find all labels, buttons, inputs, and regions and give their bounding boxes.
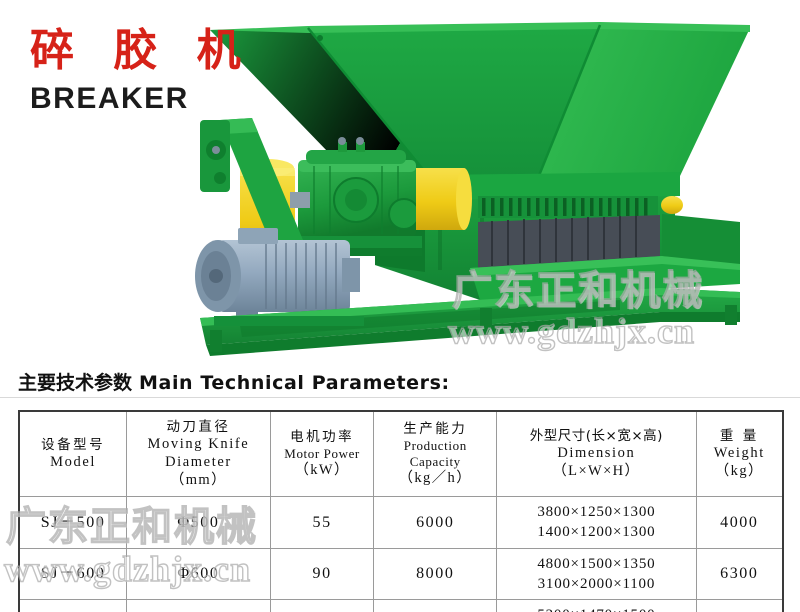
drive-shaft [290, 192, 310, 208]
col-header-dimension-cn: 外型尺寸(长×宽×高) [499, 427, 694, 445]
cell-motor-power: 55 [270, 497, 374, 549]
cell-dimension-line1: 5200×1470×1500 [499, 605, 694, 612]
col-header-motor-power-cn: 电机功率 [273, 428, 372, 446]
col-header-model: 设备型号 Model [19, 411, 127, 497]
cell-dimension-line2: 3100×2000×1100 [499, 574, 694, 594]
cell-motor-power-value: 90 [273, 563, 372, 585]
col-header-capacity: 生产能力 Production Capacity （kg／h） [374, 411, 497, 497]
product-photo [180, 0, 800, 360]
col-header-dimension: 外型尺寸(长×宽×高) Dimension （L×W×H） [497, 411, 697, 497]
cell-model: SJ－600 [19, 548, 127, 600]
col-header-weight-en: Weight [699, 445, 780, 462]
cell-dimension-line2: 1400×1200×1300 [499, 522, 694, 542]
cell-motor-power: 132 [270, 600, 374, 612]
breaker-machine-illustration [180, 0, 800, 360]
cell-dimension: 5200×1470×1500 2300×3200×1500 [497, 600, 697, 612]
col-header-motor-power-unit: （kW） [273, 461, 372, 479]
table-header-row: 设备型号 Model 动刀直径 Moving Knife Diameter （m… [19, 411, 783, 497]
motor-mount-rail [214, 316, 364, 326]
cell-dimension-line1: 4800×1500×1350 [499, 554, 694, 574]
cell-knife-diameter: Φ700 [127, 600, 271, 612]
col-header-knife-diameter: 动刀直径 Moving Knife Diameter （mm） [127, 411, 271, 497]
cell-dimension: 4800×1500×1350 3100×2000×1100 [497, 548, 697, 600]
belt-guard-yellow-rear [416, 168, 472, 230]
cell-model: SJ－500 [19, 497, 127, 549]
col-header-motor-power-en: Motor Power [273, 446, 372, 462]
table-row: SJ－500 Φ500 55 6000 3800×1250×1300 1400×… [19, 497, 783, 549]
spec-table-container: 设备型号 Model 动刀直径 Moving Knife Diameter （m… [18, 410, 784, 612]
col-header-capacity-cn: 生产能力 [376, 420, 494, 438]
shaft-cap-right [661, 196, 683, 214]
hopper-bolt [317, 35, 323, 41]
col-header-weight-cn: 重 量 [699, 427, 780, 445]
col-header-dimension-en: Dimension [499, 445, 694, 462]
cell-knife-diameter: Φ500 [127, 497, 271, 549]
col-header-capacity-unit: （kg／h） [376, 469, 494, 487]
cell-weight: 6300 [696, 548, 783, 600]
col-header-motor-power: 电机功率 Motor Power （kW） [270, 411, 374, 497]
table-row: SJ－700 Φ700 132 10000 5200×1470×1500 230… [19, 600, 783, 612]
cell-weight-value: 6300 [699, 563, 780, 585]
cell-capacity-value: 6000 [376, 512, 494, 534]
cell-capacity-value: 8000 [376, 563, 494, 585]
cell-model: SJ－700 [19, 600, 127, 612]
cell-dimension-line1: 3800×1250×1300 [499, 502, 694, 522]
table-row: SJ－600 Φ600 90 8000 4800×1500×1350 3100×… [19, 548, 783, 600]
cell-knife-diameter-value: Φ600 [129, 563, 268, 585]
comb-slot-row [478, 196, 658, 218]
spec-table: 设备型号 Model 动刀直径 Moving Knife Diameter （m… [18, 410, 784, 612]
col-header-model-cn: 设备型号 [22, 436, 124, 454]
col-header-capacity-en: Production Capacity [376, 438, 494, 469]
col-header-knife-diameter-cn: 动刀直径 [129, 418, 268, 436]
cell-weight-value: 4000 [699, 512, 780, 534]
heading-divider [0, 397, 800, 398]
col-header-weight-unit: （kg） [699, 462, 780, 480]
product-spec-page: 碎 胶 机 BREAKER [0, 0, 800, 612]
col-header-dimension-unit: （L×W×H） [499, 462, 694, 480]
cell-weight: 9350 [696, 600, 783, 612]
section-heading-english: Main Technical Parameters: [139, 372, 450, 394]
col-header-knife-diameter-en: Moving Knife Diameter [129, 436, 268, 471]
cell-knife-diameter: Φ600 [127, 548, 271, 600]
electric-motor [195, 228, 360, 322]
cell-model-value: SJ－500 [22, 512, 124, 534]
cell-motor-power-value: 55 [273, 512, 372, 534]
chute-right-wall [662, 214, 740, 264]
cell-motor-power: 90 [270, 548, 374, 600]
cell-weight: 4000 [696, 497, 783, 549]
title-chinese: 碎 胶 机 [30, 28, 253, 74]
section-heading: 主要技术参数 Main Technical Parameters: [18, 368, 450, 395]
cell-model-value: SJ－600 [22, 563, 124, 585]
title-english: BREAKER [30, 84, 253, 114]
cell-capacity: 6000 [374, 497, 497, 549]
cell-dimension: 3800×1250×1300 1400×1200×1300 [497, 497, 697, 549]
cell-knife-diameter-value: Φ500 [129, 512, 268, 534]
col-header-knife-diameter-unit: （mm） [129, 471, 268, 489]
pulley-housing [200, 120, 230, 192]
page-title: 碎 胶 机 BREAKER [30, 28, 253, 114]
cell-capacity: 8000 [374, 548, 497, 600]
section-heading-chinese: 主要技术参数 [18, 368, 132, 395]
col-header-model-en: Model [22, 454, 124, 471]
cell-capacity: 10000 [374, 600, 497, 612]
col-header-weight: 重 量 Weight （kg） [696, 411, 783, 497]
